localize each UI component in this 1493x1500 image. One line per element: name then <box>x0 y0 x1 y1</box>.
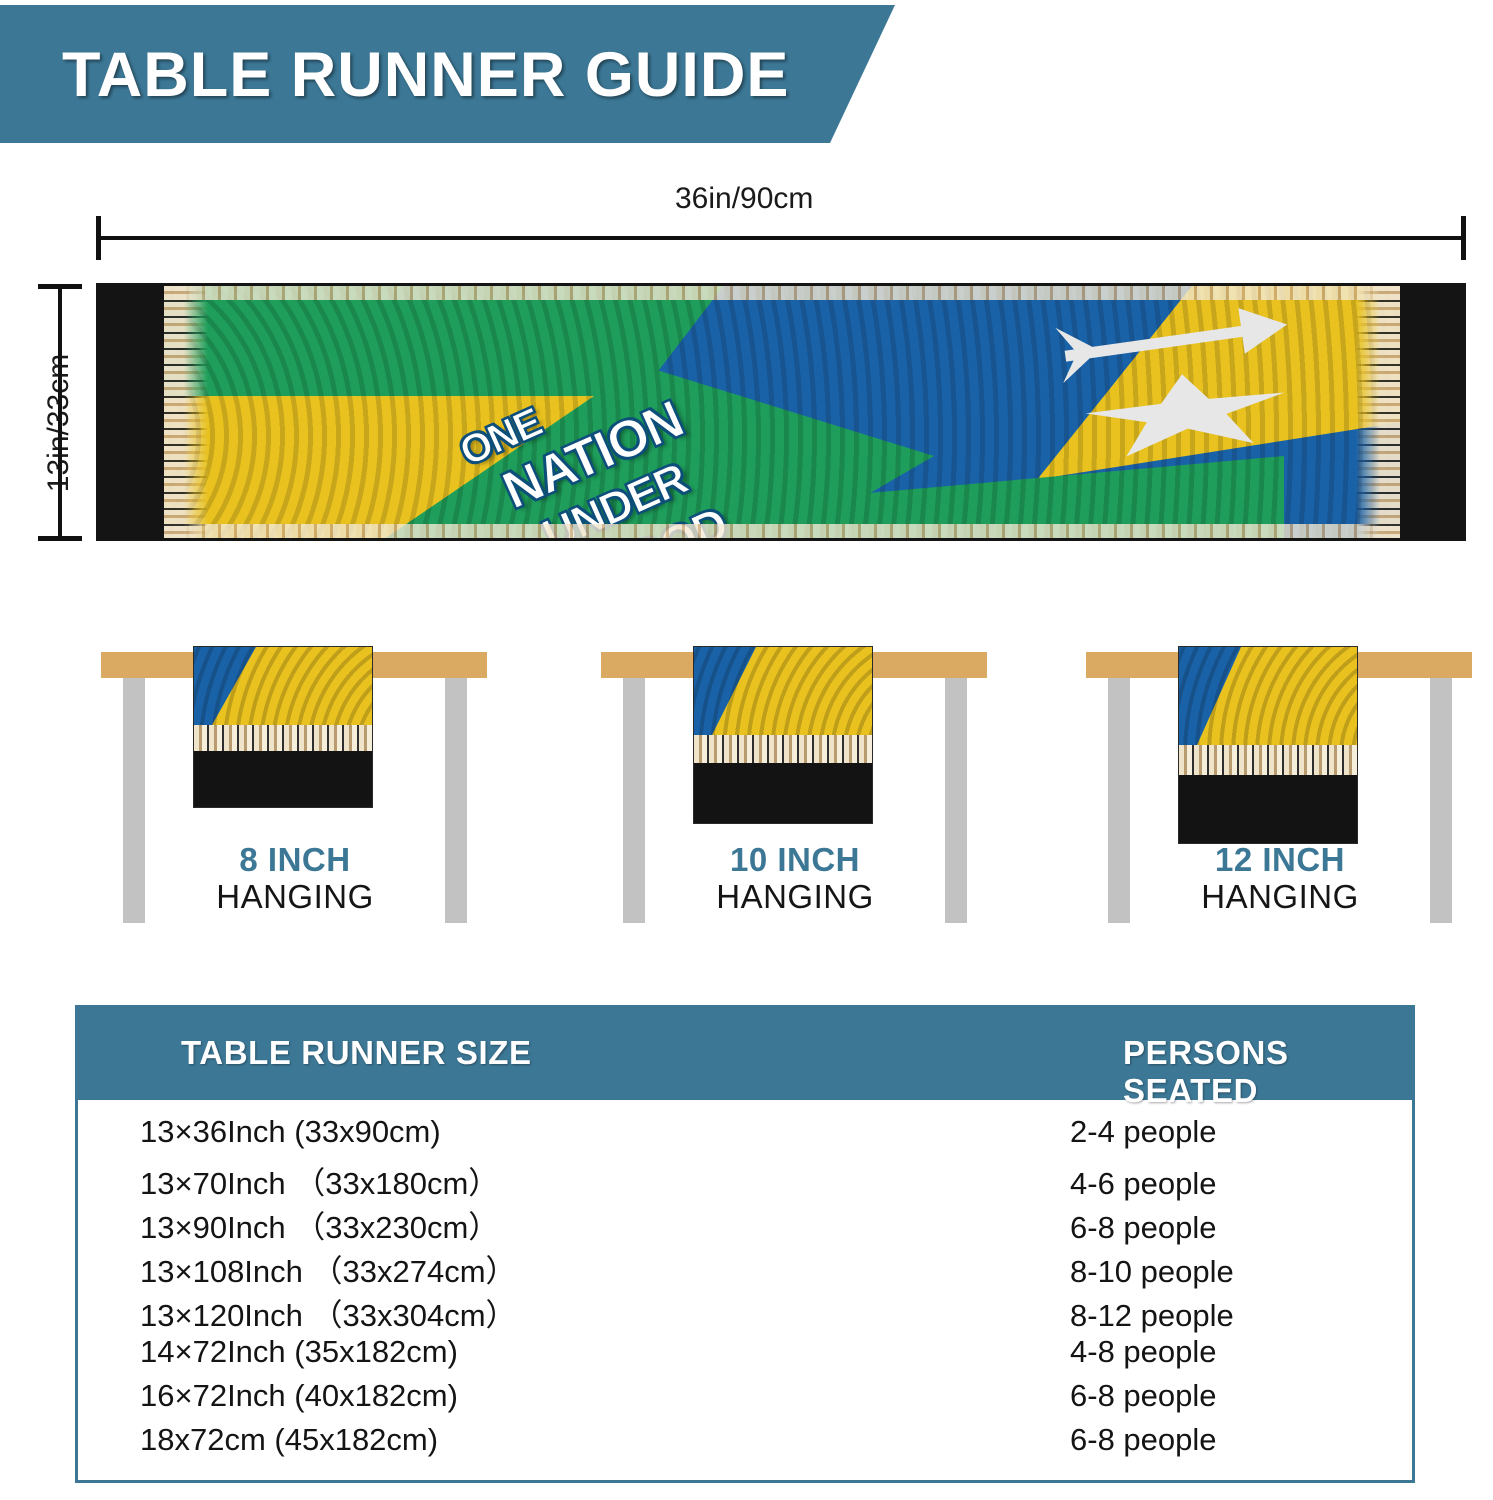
cell-persons-seated: 2-4 people <box>978 1114 1217 1150</box>
table-row: 18x72cm (45x182cm)6-8 people <box>78 1422 1412 1466</box>
arrow-shaft <box>1065 323 1265 362</box>
drape-artwork <box>1179 647 1357 745</box>
column-header-persons: PERSONS SEATED <box>1123 1034 1412 1110</box>
table-runner-product-image: ONE NATION UNDER GOD <box>96 283 1466 541</box>
hanging-word-label: HANGING <box>585 879 1005 916</box>
cell-runner-size: 13×120Inch （33x304cm） <box>78 1290 978 1335</box>
cell-persons-seated: 4-8 people <box>978 1334 1217 1370</box>
width-dimension-cap-left <box>96 216 101 260</box>
cell-persons-seated: 8-12 people <box>978 1298 1234 1334</box>
cell-persons-seated: 6-8 people <box>978 1378 1217 1414</box>
cell-runner-size: 13×36Inch (33x90cm) <box>78 1114 978 1150</box>
header-banner: TABLE RUNNER GUIDE <box>0 5 895 143</box>
cell-persons-seated: 6-8 people <box>978 1422 1217 1458</box>
cell-persons-seated: 8-10 people <box>978 1254 1234 1290</box>
size-reference-table: TABLE RUNNER SIZE PERSONS SEATED 13×36In… <box>75 1005 1415 1483</box>
drape-distressed-edge <box>694 735 872 763</box>
hanging-label-group: 10 INCH HANGING <box>585 842 1005 916</box>
table-row: 13×120Inch （33x304cm）8-12 people <box>78 1290 1412 1334</box>
height-dimension-cap-bottom <box>38 536 82 541</box>
drape-distressed-edge <box>194 725 372 751</box>
table-row: 14×72Inch (35x182cm)4-8 people <box>78 1334 1412 1378</box>
runner-drape <box>193 646 373 808</box>
column-header-size: TABLE RUNNER SIZE <box>181 1034 532 1072</box>
drape-black-hem <box>1179 775 1357 841</box>
artwork-distressed-edge-left <box>164 286 208 538</box>
hanging-example-12inch: 12 INCH HANGING <box>1070 620 1490 950</box>
hanging-example-8inch: 8 INCH HANGING <box>85 620 505 950</box>
hanging-inch-label: 8 INCH <box>85 842 505 879</box>
drape-artwork <box>694 647 872 735</box>
artwork-distressed-edge-right <box>1356 286 1400 538</box>
hanging-inch-label: 10 INCH <box>585 842 1005 879</box>
artwork-distressed-edge-bottom <box>164 524 1400 538</box>
runner-drape <box>1178 646 1358 844</box>
cell-runner-size: 18x72cm (45x182cm) <box>78 1422 978 1458</box>
drape-black-hem <box>194 751 372 805</box>
table-row: 13×70Inch （33x180cm）4-6 people <box>78 1158 1412 1202</box>
drape-artwork <box>194 647 372 725</box>
width-dimension-cap-right <box>1461 216 1466 260</box>
hanging-label-group: 8 INCH HANGING <box>85 842 505 916</box>
height-dimension-line <box>58 286 62 540</box>
cell-runner-size: 13×90Inch （33x230cm） <box>78 1202 978 1247</box>
runner-drape <box>693 646 873 824</box>
table-body: 13×36Inch (33x90cm)2-4 people13×70Inch （… <box>78 1100 1412 1466</box>
cell-runner-size: 13×70Inch （33x180cm） <box>78 1158 978 1203</box>
cell-runner-size: 16×72Inch (40x182cm) <box>78 1378 978 1414</box>
drape-wave-texture <box>1179 647 1357 745</box>
hanging-label-group: 12 INCH HANGING <box>1070 842 1490 916</box>
hanging-examples-row: 8 INCH HANGING 10 INCH HANGING <box>0 620 1493 950</box>
hanging-inch-label: 12 INCH <box>1070 842 1490 879</box>
table-header-row: TABLE RUNNER SIZE PERSONS SEATED <box>78 1008 1412 1100</box>
cell-runner-size: 14×72Inch (35x182cm) <box>78 1334 978 1370</box>
cell-persons-seated: 6-8 people <box>978 1210 1217 1246</box>
drape-distressed-edge <box>1179 745 1357 775</box>
hanging-example-10inch: 10 INCH HANGING <box>585 620 1005 950</box>
width-dimension-line <box>96 236 1466 240</box>
table-row: 16×72Inch (40x182cm)6-8 people <box>78 1378 1412 1422</box>
hanging-word-label: HANGING <box>85 879 505 916</box>
arrow-head <box>1238 302 1290 354</box>
drape-wave-texture <box>694 647 872 735</box>
artwork-distressed-edge-top <box>164 286 1400 300</box>
table-row: 13×108Inch （33x274cm）8-10 people <box>78 1246 1412 1290</box>
height-dimension-cap-top <box>38 284 82 289</box>
cell-runner-size: 13×108Inch （33x274cm） <box>78 1246 978 1291</box>
drape-wave-texture <box>194 647 372 725</box>
table-row: 13×36Inch (33x90cm)2-4 people <box>78 1114 1412 1158</box>
drape-black-hem <box>694 763 872 823</box>
width-dimension-label: 36in/90cm <box>675 182 813 216</box>
page-title: TABLE RUNNER GUIDE <box>62 39 789 111</box>
hanging-word-label: HANGING <box>1070 879 1490 916</box>
table-row: 13×90Inch （33x230cm）6-8 people <box>78 1202 1412 1246</box>
runner-artwork: ONE NATION UNDER GOD <box>164 286 1400 538</box>
cell-persons-seated: 4-6 people <box>978 1166 1217 1202</box>
